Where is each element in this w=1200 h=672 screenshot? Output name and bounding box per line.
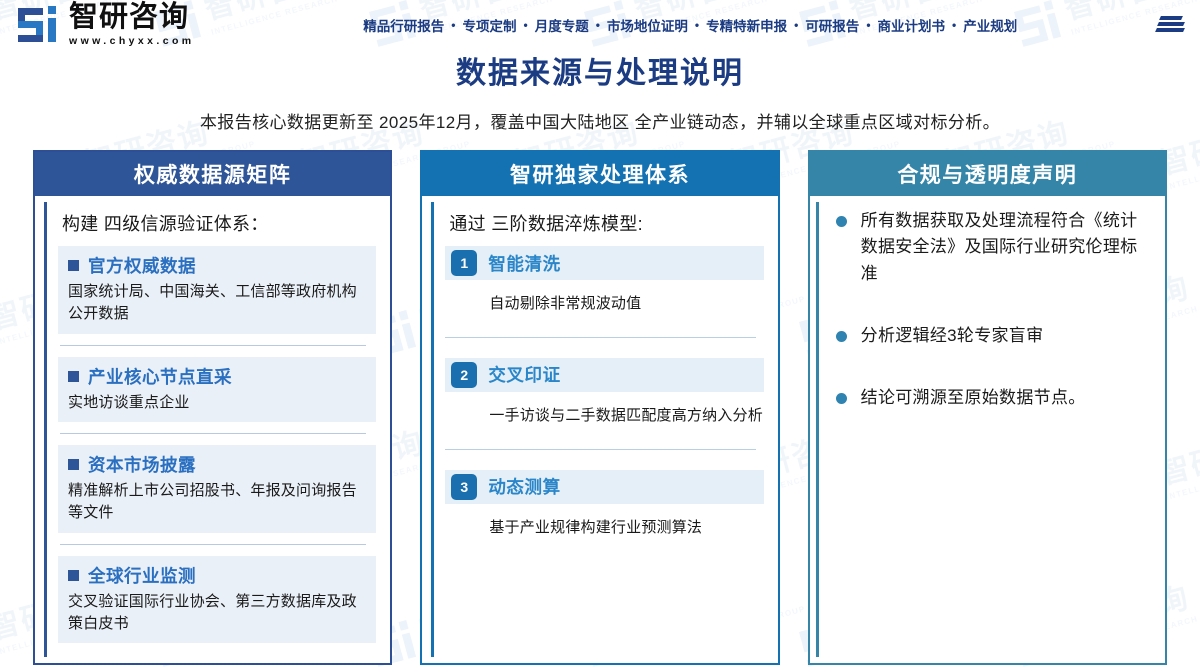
nav-item-0[interactable]: 精品行研报告 bbox=[363, 15, 444, 35]
compliance-bullet-text: 所有数据获取及处理流程符合《统计数据安全法》及国际行业研究伦理标准 bbox=[861, 208, 1145, 287]
card-1-intro: 构建 四级信源验证体系： bbox=[62, 210, 376, 236]
card-2-header: 智研独家处理体系 bbox=[422, 152, 777, 196]
data-source-item-desc: 国家统计局、中国海关、工信部等政府机构公开数据 bbox=[68, 281, 366, 325]
nav-separator: • bbox=[524, 18, 528, 32]
compliance-bullet-text: 分析逻辑经3轮专家盲审 bbox=[861, 323, 1044, 349]
company-logo-icon bbox=[18, 6, 60, 44]
card-2-intro: 通过 三阶数据淬炼模型: bbox=[449, 210, 763, 236]
nav-item-5[interactable]: 可研报告 bbox=[805, 15, 859, 35]
item-divider bbox=[60, 433, 366, 434]
round-bullet-icon bbox=[836, 331, 847, 342]
page-title: 数据来源与处理说明 bbox=[0, 56, 1200, 92]
processing-step-title: 动态测算 bbox=[488, 474, 560, 499]
brand-url: www.chyxx.com bbox=[69, 36, 195, 47]
square-bullet-icon bbox=[68, 371, 79, 382]
data-source-item-head: 官方权威数据 bbox=[68, 253, 366, 278]
processing-step-head: 1智能清洗 bbox=[445, 246, 763, 280]
card-compliance-statement: 合规与透明度声明 所有数据获取及处理流程符合《统计数据安全法》及国际行业研究伦理… bbox=[808, 150, 1167, 665]
card-3-bullet-list: 所有数据获取及处理流程符合《统计数据安全法》及国际行业研究伦理标准分析逻辑经3轮… bbox=[822, 208, 1151, 412]
nav-item-6[interactable]: 商业计划书 bbox=[878, 15, 946, 35]
data-source-item-title: 全球行业监测 bbox=[88, 563, 196, 588]
card-3-header: 合规与透明度声明 bbox=[810, 152, 1165, 196]
processing-step-desc: 基于产业规律构建行业预测算法 bbox=[489, 517, 763, 539]
data-source-item: 全球行业监测交叉验证国际行业协会、第三方数据库及政策白皮书 bbox=[58, 556, 376, 644]
nav-separator: • bbox=[866, 18, 870, 32]
processing-step-title: 智能清洗 bbox=[488, 251, 560, 276]
square-bullet-icon bbox=[68, 260, 79, 271]
step-divider bbox=[445, 449, 755, 450]
brand-logo-block[interactable]: 智研咨询 www.chyxx.com bbox=[18, 3, 195, 47]
card-1-accent-rule bbox=[44, 202, 47, 657]
data-source-item-title: 产业核心节点直采 bbox=[88, 364, 232, 389]
compliance-bullet: 分析逻辑经3轮专家盲审 bbox=[836, 323, 1145, 349]
data-source-item: 资本市场披露精准解析上市公司招股书、年报及问询报告等文件 bbox=[58, 445, 376, 533]
card-2-step-list: 1智能清洗自动剔除非常规波动值2交叉印证一手访谈与二手数据匹配度高方纳入分析3动… bbox=[437, 246, 763, 538]
step-number-badge: 1 bbox=[451, 250, 477, 276]
item-divider bbox=[60, 345, 366, 346]
brand-name: 智研咨询 bbox=[69, 3, 195, 32]
nav-item-4[interactable]: 专精特新申报 bbox=[706, 15, 787, 35]
processing-step-desc: 一手访谈与二手数据匹配度高方纳入分析 bbox=[489, 405, 763, 427]
card-processing-system: 智研独家处理体系 通过 三阶数据淬炼模型: 1智能清洗自动剔除非常规波动值2交叉… bbox=[420, 150, 779, 665]
data-source-item-desc: 交叉验证国际行业协会、第三方数据库及政策白皮书 bbox=[68, 591, 366, 635]
square-bullet-icon bbox=[68, 459, 79, 470]
data-source-item-head: 全球行业监测 bbox=[68, 563, 366, 588]
top-navigation: 精品行研报告•专项定制•月度专题•市场地位证明•专精特新申报•可研报告•商业计划… bbox=[235, 15, 1146, 35]
nav-item-2[interactable]: 月度专题 bbox=[535, 15, 589, 35]
card-3-body: 所有数据获取及处理流程符合《统计数据安全法》及国际行业研究伦理标准分析逻辑经3轮… bbox=[810, 196, 1165, 663]
card-1-header: 权威数据源矩阵 bbox=[35, 152, 390, 196]
data-source-item-desc: 实地访谈重点企业 bbox=[68, 392, 366, 414]
data-source-item: 官方权威数据国家统计局、中国海关、工信部等政府机构公开数据 bbox=[58, 246, 376, 334]
card-3-accent-rule bbox=[816, 202, 819, 657]
card-data-source-matrix: 权威数据源矩阵 构建 四级信源验证体系： 官方权威数据国家统计局、中国海关、工信… bbox=[33, 150, 392, 665]
processing-step: 1智能清洗自动剔除非常规波动值 bbox=[445, 246, 763, 315]
nav-separator: • bbox=[451, 18, 455, 32]
card-1-item-list: 官方权威数据国家统计局、中国海关、工信部等政府机构公开数据产业核心节点直采实地访… bbox=[50, 246, 376, 643]
brand-text: 智研咨询 www.chyxx.com bbox=[69, 3, 195, 47]
step-divider bbox=[445, 337, 755, 338]
nav-item-3[interactable]: 市场地位证明 bbox=[607, 15, 688, 35]
processing-step-desc: 自动剔除非常规波动值 bbox=[489, 293, 763, 315]
processing-step-head: 2交叉印证 bbox=[445, 358, 763, 392]
compliance-bullet: 结论可溯源至原始数据节点。 bbox=[836, 385, 1145, 411]
data-source-item-title: 资本市场披露 bbox=[88, 452, 196, 477]
nav-separator: • bbox=[596, 18, 600, 32]
top-bar: 智研咨询 www.chyxx.com 精品行研报告•专项定制•月度专题•市场地位… bbox=[0, 0, 1200, 50]
processing-step-title: 交叉印证 bbox=[488, 362, 560, 387]
data-source-item-title: 官方权威数据 bbox=[88, 253, 196, 278]
card-2-accent-rule bbox=[431, 202, 434, 657]
card-2-body: 通过 三阶数据淬炼模型: 1智能清洗自动剔除非常规波动值2交叉印证一手访谈与二手… bbox=[422, 196, 777, 663]
data-source-item-head: 资本市场披露 bbox=[68, 452, 366, 477]
card-1-body: 构建 四级信源验证体系： 官方权威数据国家统计局、中国海关、工信部等政府机构公开… bbox=[35, 196, 390, 663]
processing-step: 3动态测算基于产业规律构建行业预测算法 bbox=[445, 470, 763, 539]
compliance-bullet-text: 结论可溯源至原始数据节点。 bbox=[861, 385, 1086, 411]
nav-separator: • bbox=[695, 18, 699, 32]
round-bullet-icon bbox=[836, 393, 847, 404]
processing-step: 2交叉印证一手访谈与二手数据匹配度高方纳入分析 bbox=[445, 358, 763, 427]
compliance-bullet: 所有数据获取及处理流程符合《统计数据安全法》及国际行业研究伦理标准 bbox=[836, 208, 1145, 287]
data-source-item-head: 产业核心节点直采 bbox=[68, 364, 366, 389]
title-block: 数据来源与处理说明 本报告核心数据更新至 2025年12月，覆盖中国大陆地区 全… bbox=[0, 50, 1200, 133]
round-bullet-icon bbox=[836, 216, 847, 227]
stacked-menu-icon[interactable] bbox=[1156, 14, 1186, 36]
nav-separator: • bbox=[952, 18, 956, 32]
nav-item-1[interactable]: 专项定制 bbox=[463, 15, 517, 35]
cards-row: 权威数据源矩阵 构建 四级信源验证体系： 官方权威数据国家统计局、中国海关、工信… bbox=[0, 150, 1200, 665]
data-source-item-desc: 精准解析上市公司招股书、年报及问询报告等文件 bbox=[68, 480, 366, 524]
nav-item-7[interactable]: 产业规划 bbox=[963, 15, 1017, 35]
processing-step-head: 3动态测算 bbox=[445, 470, 763, 504]
page-subtitle: 本报告核心数据更新至 2025年12月，覆盖中国大陆地区 全产业链动态，并辅以全… bbox=[0, 108, 1200, 133]
page-root: 智研咨询 www.chyxx.com 精品行研报告•专项定制•月度专题•市场地位… bbox=[0, 0, 1200, 672]
item-divider bbox=[60, 544, 366, 545]
nav-separator: • bbox=[794, 18, 798, 32]
step-number-badge: 3 bbox=[451, 474, 477, 500]
step-number-badge: 2 bbox=[451, 362, 477, 388]
square-bullet-icon bbox=[68, 570, 79, 581]
data-source-item: 产业核心节点直采实地访谈重点企业 bbox=[58, 357, 376, 423]
